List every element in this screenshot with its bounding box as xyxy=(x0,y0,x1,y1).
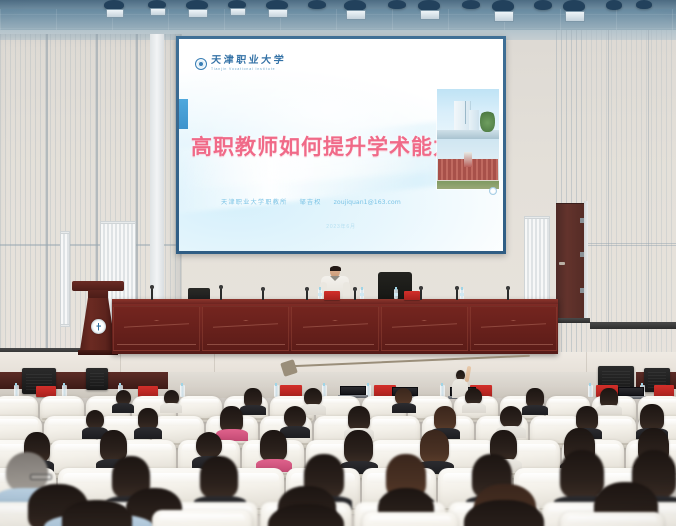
table-panel xyxy=(381,306,468,351)
slide-date: 2023年6月 xyxy=(179,223,503,230)
radiator xyxy=(60,232,70,326)
wall-seam xyxy=(584,243,676,244)
audience-member xyxy=(462,388,486,412)
microphone xyxy=(456,289,458,300)
audience-member xyxy=(196,456,244,508)
presentation-slide: 天津职业大学 Tianjin Vocational Institute 高职教师… xyxy=(179,39,503,251)
auditorium-seat xyxy=(560,512,664,526)
door-frame xyxy=(584,201,588,319)
spotlight-icon xyxy=(636,0,652,9)
microphone xyxy=(262,290,264,300)
slide-corner-badge xyxy=(489,187,497,195)
table-panel xyxy=(113,306,200,351)
spotlight-icon xyxy=(230,8,246,16)
audience-member xyxy=(112,390,134,412)
door-handle[interactable] xyxy=(559,262,565,265)
byline-affiliation: 天津职业大学职教所 xyxy=(221,197,288,206)
door-hinge-icon xyxy=(580,218,584,223)
spotlight-icon xyxy=(346,10,366,20)
microphone xyxy=(306,290,308,300)
table-panel xyxy=(470,306,557,351)
red-nameplate xyxy=(404,291,420,300)
table-panel xyxy=(291,306,378,351)
spotlight-icon xyxy=(420,10,440,20)
university-name-english: Tianjin Vocational Institute xyxy=(211,68,286,71)
red-nameplate xyxy=(324,291,340,300)
microphone xyxy=(220,288,222,300)
spotlight-icon xyxy=(565,11,585,22)
slide-accent-bar xyxy=(179,99,188,129)
spotlight-icon xyxy=(308,0,326,9)
presenter-hair xyxy=(330,266,341,271)
spotlight-icon xyxy=(106,9,124,18)
spotlight-icon xyxy=(188,9,208,18)
baseboard xyxy=(556,318,590,323)
table-panel xyxy=(202,306,289,351)
slide-campus-photos xyxy=(437,89,499,189)
audience-member xyxy=(452,500,556,526)
microphone xyxy=(151,288,153,300)
lecture-hall-photo: 天津职业大学 Tianjin Vocational Institute 高职教师… xyxy=(0,0,676,526)
campus-photo-red-brick-building xyxy=(437,139,499,189)
spotlight-icon xyxy=(494,11,514,22)
podium-neck xyxy=(88,290,108,299)
spotlight-icon xyxy=(150,8,166,16)
university-seal-icon xyxy=(195,58,207,70)
audience-member xyxy=(134,408,162,438)
door-hinge-icon xyxy=(580,288,584,293)
water-bottle xyxy=(394,289,398,299)
spotlight-icon xyxy=(388,0,406,9)
microphone xyxy=(420,289,422,300)
byline-email: zoujiquan1@163.com xyxy=(334,199,401,206)
audience-member xyxy=(160,390,182,412)
audience-seating xyxy=(0,388,676,526)
water-bottle xyxy=(460,289,464,299)
eyeglasses-icon xyxy=(30,474,52,480)
head-table xyxy=(112,299,558,354)
auditorium-seat xyxy=(152,510,252,526)
slide-title: 高职教师如何提升学术能力 xyxy=(191,131,437,161)
university-name-chinese: 天津职业大学 xyxy=(211,56,287,66)
spotlight-icon xyxy=(462,0,480,9)
microphone xyxy=(507,289,509,300)
slide-byline: 天津职业大学职教所 邹吉权 zoujiquan1@163.com xyxy=(221,197,471,206)
university-logo: 天津职业大学 Tianjin Vocational Institute xyxy=(195,56,286,71)
spotlight-icon xyxy=(606,0,622,10)
wall-seam xyxy=(584,245,676,246)
audience-member xyxy=(256,430,292,470)
podium-emblem-icon xyxy=(91,319,106,334)
floor-speaker-cabinet xyxy=(86,368,108,390)
byline-presenter: 邹吉权 xyxy=(300,197,322,206)
auditorium-seat xyxy=(362,512,458,526)
audience-member xyxy=(258,504,354,526)
campus-photo-modern-building xyxy=(437,89,499,139)
audience-member xyxy=(392,388,416,412)
baseboard xyxy=(590,322,676,329)
wall-seam xyxy=(46,34,48,364)
projection-screen: 天津职业大学 Tianjin Vocational Institute 高职教师… xyxy=(176,36,506,254)
water-bottle xyxy=(318,289,322,299)
spotlight-icon xyxy=(534,0,552,10)
water-bottle xyxy=(360,289,364,299)
audience-member xyxy=(44,500,154,526)
microphone xyxy=(354,290,356,300)
door-hinge-icon xyxy=(580,252,584,257)
spotlight-icon xyxy=(268,9,288,18)
